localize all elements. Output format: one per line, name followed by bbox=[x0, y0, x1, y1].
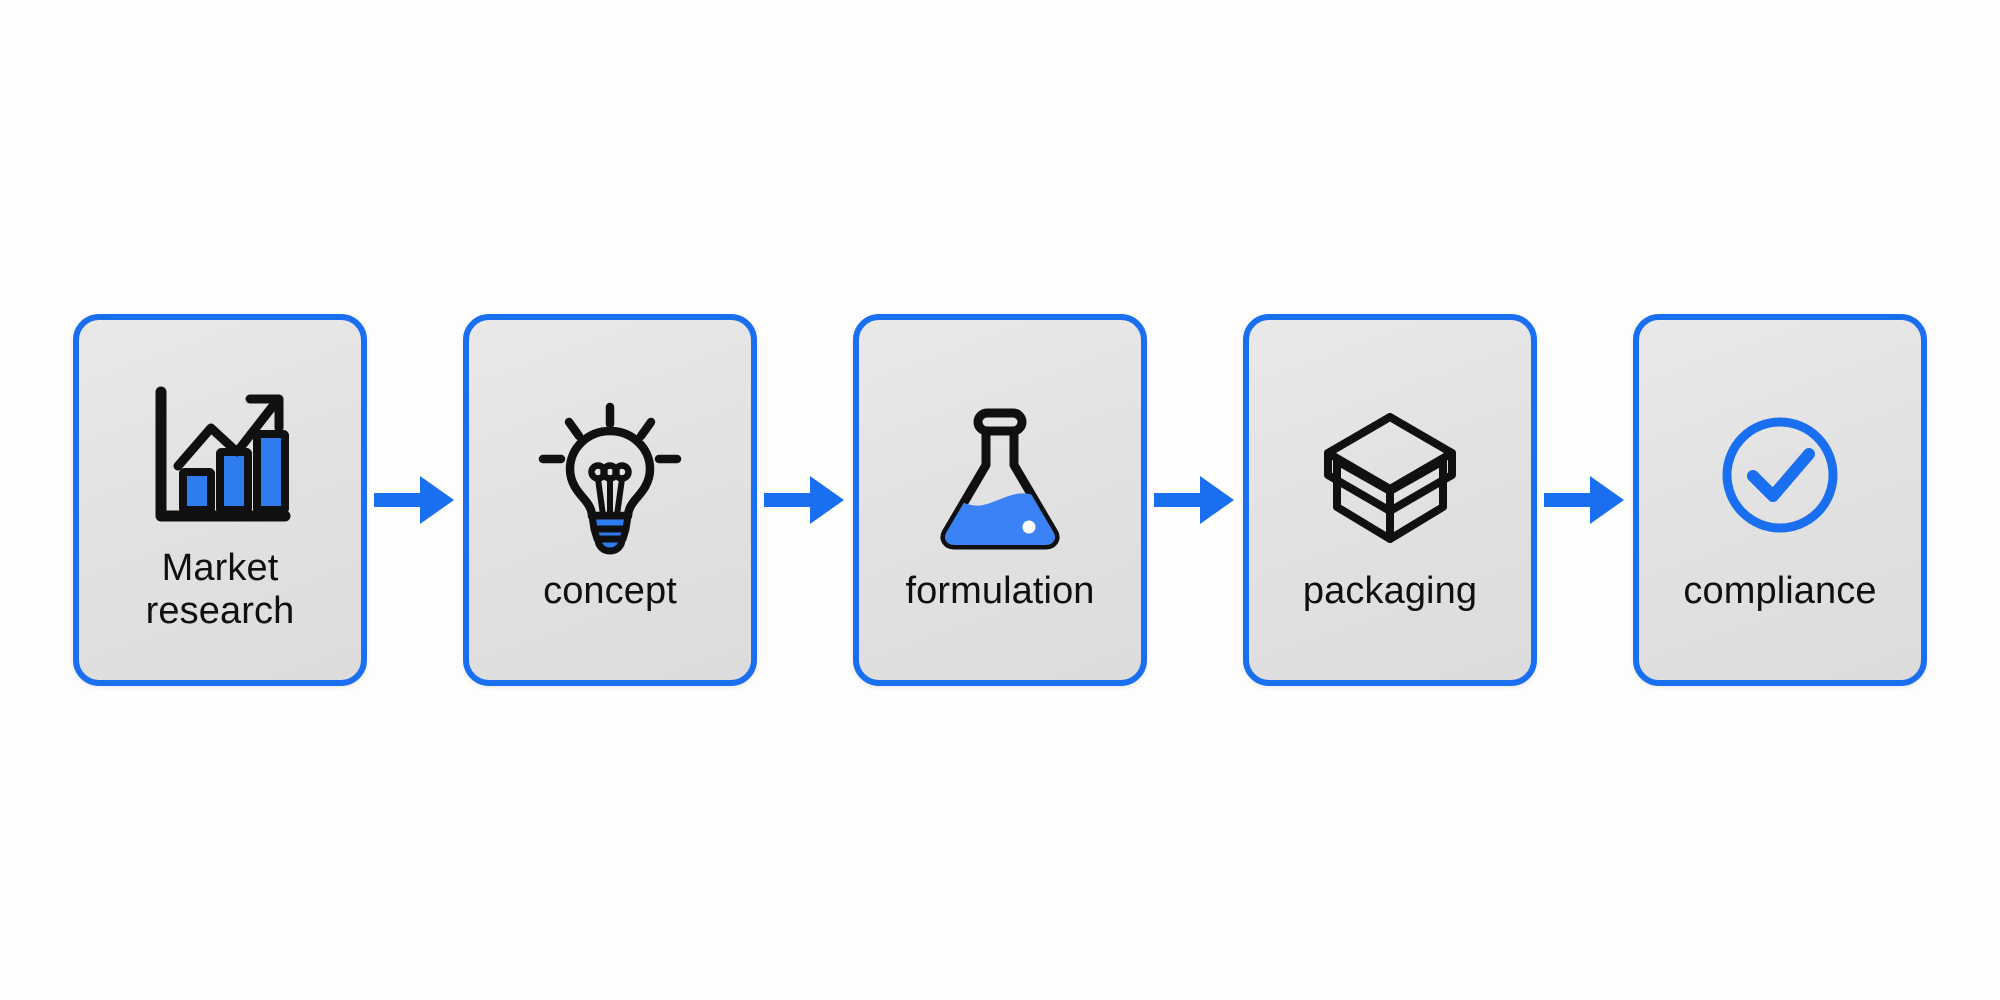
erlenmeyer-flask-icon bbox=[925, 402, 1075, 554]
lightbulb-icon bbox=[535, 402, 685, 554]
arrow-right-icon-3 bbox=[1147, 465, 1243, 535]
arrow-right-icon-1 bbox=[367, 465, 463, 535]
step-label-concept: concept bbox=[543, 570, 677, 613]
flow-steps-row: Market research bbox=[73, 314, 1927, 686]
step-label-market-research: Market research bbox=[146, 547, 295, 632]
step-label-formulation: formulation bbox=[905, 570, 1094, 613]
step-card-formulation[interactable]: formulation bbox=[853, 314, 1147, 686]
step-card-market-research[interactable]: Market research bbox=[73, 314, 367, 686]
bar-chart-growth-icon bbox=[145, 381, 295, 533]
arrow-right-icon-2 bbox=[757, 465, 853, 535]
step-card-concept[interactable]: concept bbox=[463, 314, 757, 686]
step-label-compliance: compliance bbox=[1683, 570, 1876, 613]
check-circle-icon bbox=[1705, 402, 1855, 554]
box-package-icon bbox=[1315, 402, 1465, 554]
step-card-packaging[interactable]: packaging bbox=[1243, 314, 1537, 686]
step-card-compliance[interactable]: compliance bbox=[1633, 314, 1927, 686]
step-label-packaging: packaging bbox=[1303, 570, 1477, 613]
process-flow-diagram: Market research bbox=[0, 0, 2000, 1000]
arrow-right-icon-4 bbox=[1537, 465, 1633, 535]
